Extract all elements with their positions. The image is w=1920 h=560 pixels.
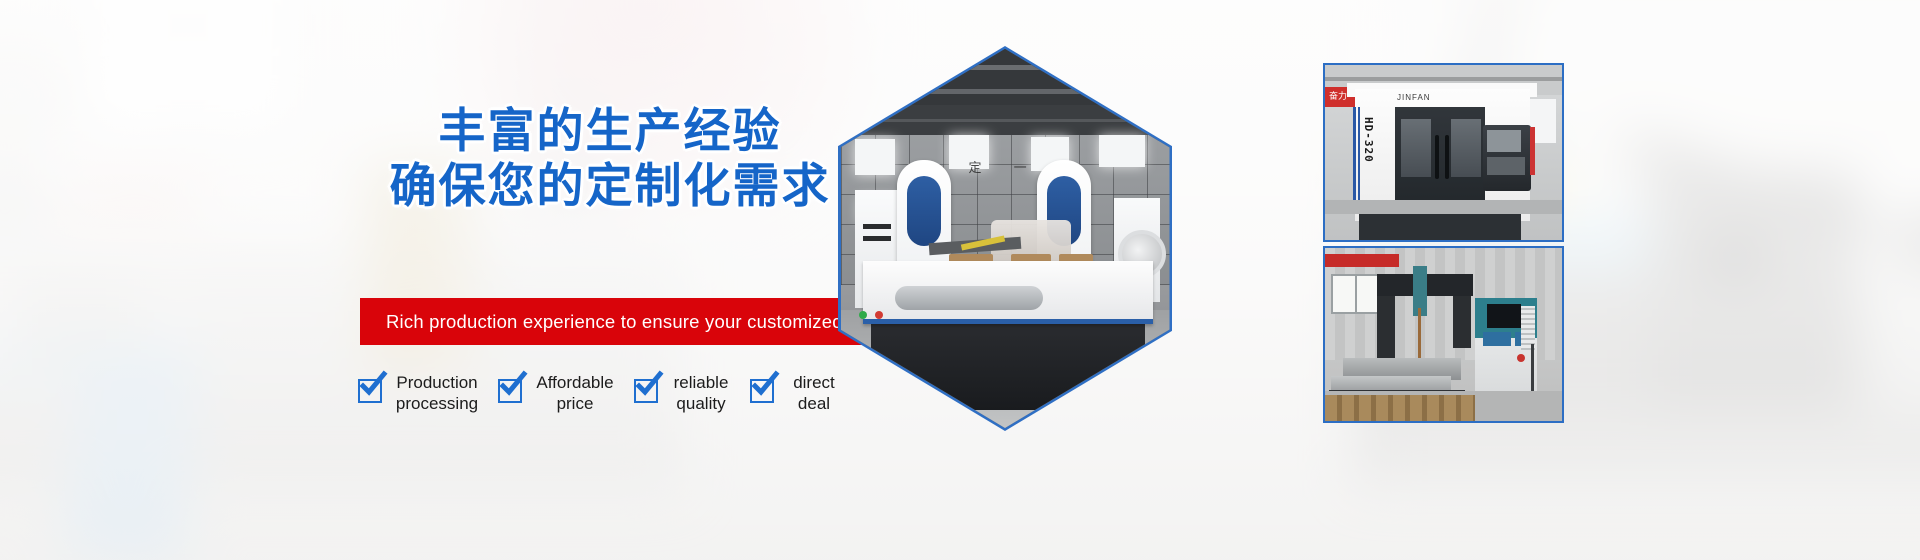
checkbox-checked-icon (358, 379, 382, 403)
machine-base (871, 318, 1145, 410)
checkbox-checked-icon (750, 379, 774, 403)
m1-panel-keypad (1487, 157, 1525, 175)
m2-window (1331, 274, 1379, 314)
side-photo-stack: 奋力 HD-320 JINFAN (1323, 63, 1560, 423)
headline: 丰富的生产经验 确保您的定制化需求 (330, 104, 890, 214)
feature-list: Productionprocessing Affordableprice rel… (358, 372, 842, 414)
feature-label-line-2: quality (676, 394, 725, 413)
m1-door-glass (1401, 119, 1431, 177)
scene-truss-2 (854, 89, 1157, 94)
headline-line-2: 确保您的定制化需求 (330, 159, 890, 214)
factory-scene: 定 一 初 (841, 49, 1170, 428)
feature-label: Productionprocessing (394, 372, 480, 414)
side-photo-bottom (1323, 246, 1564, 423)
hexagon-photo: 定 一 初 (838, 46, 1172, 431)
m2-cable (1531, 344, 1534, 396)
feature-item: Productionprocessing (358, 372, 480, 414)
scene-truss (854, 65, 1157, 70)
checkbox-checked-icon (634, 379, 658, 403)
checkbox-checked-icon (498, 379, 522, 403)
tagline-bar: Rich production experience to ensure you… (360, 298, 905, 345)
feature-label-line-1: direct (793, 373, 835, 392)
feature-item: reliablequality (634, 372, 732, 414)
machine-indicator-lights (859, 306, 891, 324)
feature-item: directdeal (750, 372, 842, 414)
feature-label-line-2: deal (798, 394, 830, 413)
feature-label-line-1: Affordable (536, 373, 613, 392)
scene-window (855, 139, 895, 175)
m2-wooden-pallet (1325, 395, 1475, 421)
m1-red-trim (1530, 127, 1535, 175)
m1-enclosure-door (1395, 107, 1485, 205)
feature-label-line-2: price (557, 394, 594, 413)
m1-brand-label: JINFAN (1397, 93, 1431, 102)
m2-wall-banner (1325, 254, 1399, 267)
feature-label: Affordableprice (534, 372, 616, 414)
scene-window (1099, 135, 1145, 167)
m1-accent-stripe-2 (1358, 107, 1360, 205)
feature-label-line-1: Production (396, 373, 477, 392)
feature-label-line-2: processing (396, 394, 478, 413)
m1-panel-screen (1487, 130, 1521, 152)
scene-roof-apex (841, 49, 1170, 105)
feature-label: reliablequality (670, 372, 732, 414)
m2-emergency-stop-icon (1517, 354, 1525, 362)
tagline-text: Rich production experience to ensure you… (386, 311, 899, 333)
m1-door-glass (1451, 119, 1481, 177)
hexagon-photo-inner: 定 一 初 (841, 49, 1170, 428)
headline-line-1: 丰富的生产经验 (330, 104, 890, 159)
m2-control-screen (1487, 304, 1521, 328)
m2-gantry-beam-right (1425, 274, 1473, 296)
m2-quill (1418, 308, 1421, 360)
m1-accent-stripe (1353, 107, 1356, 205)
m1-plinth (1359, 214, 1521, 240)
feature-label-line-1: reliable (674, 373, 729, 392)
m1-ground (1325, 200, 1562, 214)
side-photo-top: 奋力 HD-320 JINFAN (1323, 63, 1564, 242)
m2-control-keypad (1483, 332, 1511, 346)
feature-item: Affordableprice (498, 372, 616, 414)
hero-banner: 丰富的生产经验 确保您的定制化需求 Rich production experi… (0, 0, 1920, 560)
feature-label: directdeal (786, 372, 842, 414)
machine-bed-window (895, 286, 1043, 310)
m1-control-panel (1483, 125, 1531, 191)
m1-model-label: HD-320 (1361, 117, 1375, 177)
